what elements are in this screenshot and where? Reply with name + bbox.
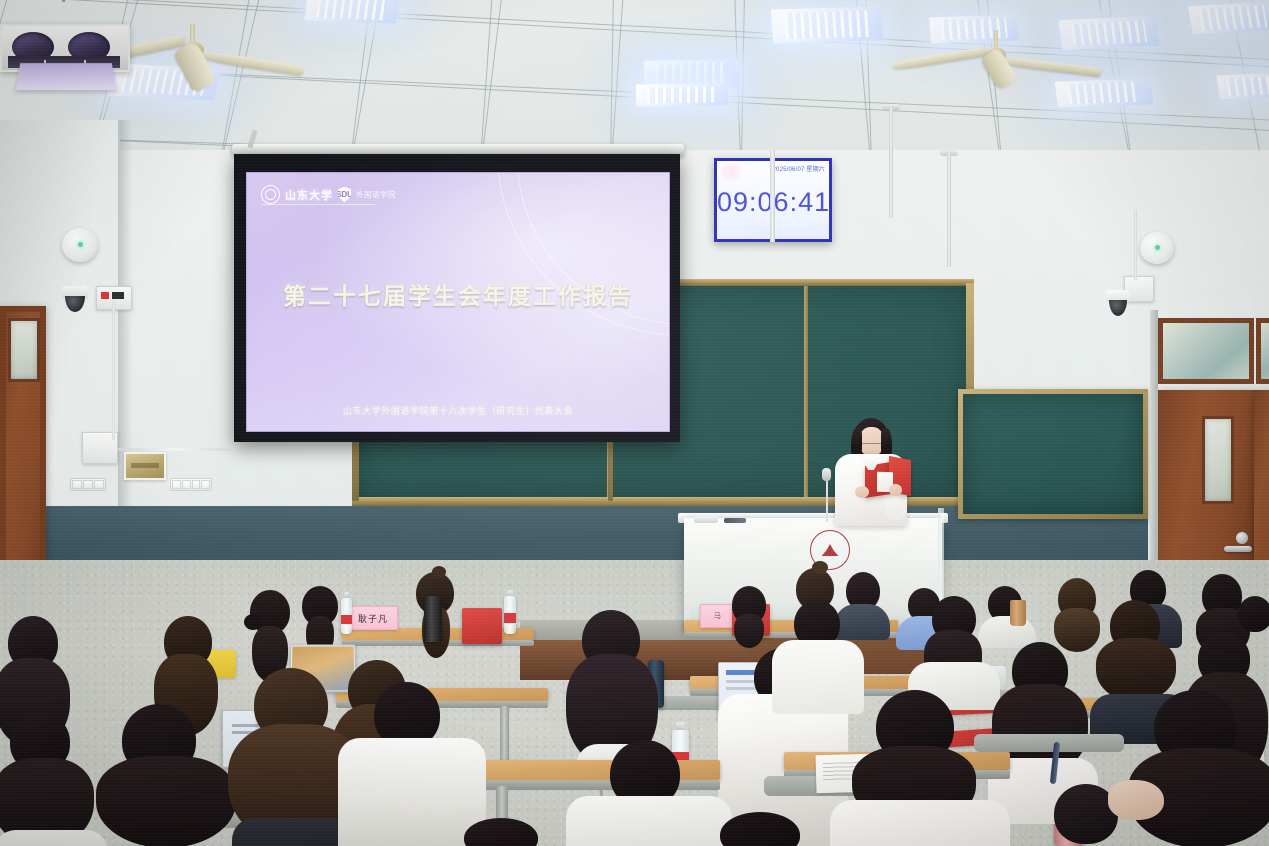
nameplate-text: 马	[714, 611, 722, 621]
ceiling-fan	[120, 24, 300, 94]
projector-flap	[16, 63, 117, 90]
lectern-marker[interactable]	[724, 518, 746, 523]
hand	[1108, 780, 1164, 820]
slide-title: 第二十七届学生会年度工作报告	[247, 277, 669, 311]
wall-baseboard-conduit	[118, 448, 236, 451]
door-frame-right	[1150, 310, 1158, 592]
presenter-hand	[889, 484, 902, 496]
light-switch-panel[interactable]	[70, 478, 106, 491]
slide-logo-university: 山东大学	[285, 187, 333, 203]
slide-logo: 山东大学 SDU 外国语学院	[261, 185, 396, 204]
coffee-cup	[1010, 600, 1026, 626]
door-transom	[1158, 318, 1254, 384]
slide-subtitle: 山东大学外国语学院第十六次学生（研究生）代表大会	[247, 404, 669, 417]
wall-plaque	[124, 452, 166, 480]
red-bag	[462, 608, 502, 644]
thermos	[424, 596, 442, 642]
ceiling-panel-light	[1188, 2, 1269, 35]
ceiling-panel-light	[304, 0, 399, 24]
wall-speaker	[1140, 232, 1174, 264]
clock-logo-icon	[721, 164, 741, 180]
slide-logo-school: 外国语学院	[356, 189, 396, 200]
ceiling-panel-light	[771, 6, 883, 43]
clock-date: 2025/06/07 星期六	[773, 164, 826, 173]
ceiling-fan	[930, 30, 1110, 100]
presenter-hand	[855, 486, 869, 498]
dome-camera	[62, 286, 88, 312]
shield-icon: SDU	[338, 187, 351, 203]
door-knob[interactable]	[1236, 532, 1248, 544]
wall-conduit	[1134, 210, 1137, 280]
blackboard-right	[958, 389, 1148, 519]
audience-member	[840, 690, 1000, 846]
audience-member	[440, 818, 570, 846]
presenter-glasses	[861, 439, 882, 444]
wall-conduit	[112, 300, 115, 440]
nameplate: 耿子凡	[348, 606, 398, 630]
ceiling-panel-light	[1216, 72, 1269, 99]
audience-member	[690, 812, 840, 846]
audience-member	[96, 704, 240, 846]
door-window	[8, 318, 40, 382]
university-seal-icon	[261, 185, 280, 204]
window-mullion	[770, 150, 775, 242]
lectern-remote[interactable]	[694, 516, 718, 523]
hanging-rod	[889, 106, 893, 218]
desk-leg	[500, 706, 509, 764]
wall-speaker	[62, 228, 98, 262]
photo-scene: 山东大学 SDU 外国语学院 第二十七届学生会年度工作报告 山东大学外国语学院第…	[0, 0, 1269, 846]
audience-member	[724, 586, 776, 648]
door-transom	[1256, 318, 1269, 384]
shield-mark: SDU	[336, 190, 353, 199]
door-window	[1202, 416, 1234, 504]
projector-cable	[62, 0, 65, 2]
nameplate-text: 耿子凡	[358, 612, 388, 625]
water-bottle	[504, 596, 516, 634]
projection-screen: 山东大学 SDU 外国语学院 第二十七届学生会年度工作报告 山东大学外国语学院第…	[234, 154, 680, 442]
presenter-arm-left	[835, 466, 857, 520]
ceiling-panel-light	[636, 84, 728, 107]
hanging-rod	[947, 152, 951, 267]
door-handle[interactable]	[1224, 546, 1252, 552]
audience-member	[0, 712, 110, 846]
slide-logo-underline	[261, 204, 375, 205]
presenter	[815, 418, 925, 530]
presentation-slide: 山东大学 SDU 外国语学院 第二十七届学生会年度工作报告 山东大学外国语学院第…	[246, 172, 670, 432]
door-left[interactable]	[0, 306, 46, 592]
light-switch-panel[interactable]	[170, 478, 212, 491]
dome-camera	[1106, 290, 1130, 316]
